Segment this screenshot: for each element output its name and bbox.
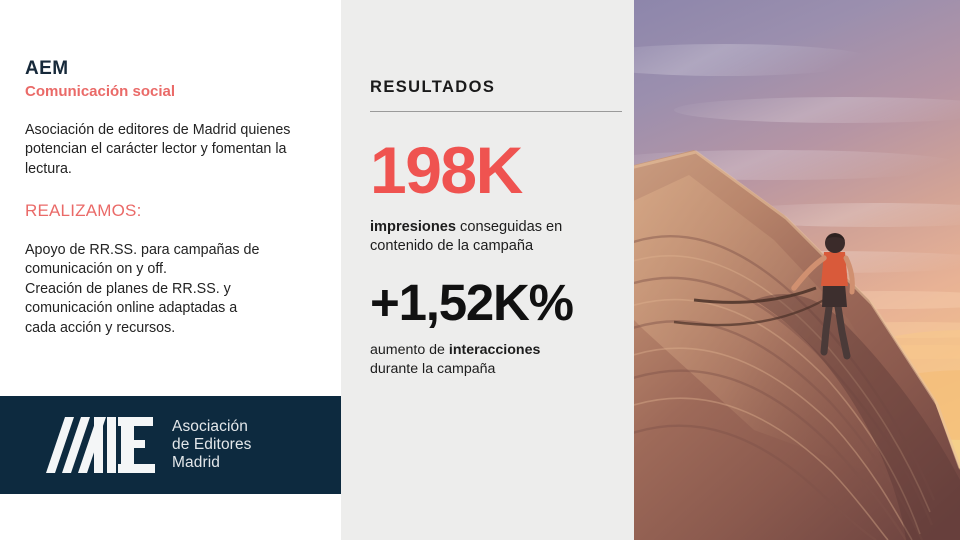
services-line-4: comunicación online adaptadas a <box>25 299 325 319</box>
climber-photo-image <box>634 0 960 540</box>
stat-interactions-caption-bold: interacciones <box>449 342 540 358</box>
left-content-block: AEM Comunicación social Asociación de ed… <box>25 58 325 339</box>
logo-wordmark: Asociación de Editores Madrid <box>172 418 252 472</box>
climber-photo-panel <box>634 0 960 540</box>
results-content: RESULTADOS 198K impresiones conseguidas … <box>370 78 623 378</box>
services-section-label: REALIZAMOS: <box>25 201 325 221</box>
stat-impressions-caption: impresiones conseguidas en contenido de … <box>370 218 623 256</box>
stat-interactions-caption-pre: aumento de <box>370 342 449 358</box>
brand-subtitle: Comunicación social <box>25 83 325 102</box>
services-line-1: Apoyo de RR.SS. para campañas de <box>25 241 325 261</box>
presentation-slide: AEM Comunicación social Asociación de ed… <box>0 0 960 540</box>
left-text-panel: AEM Comunicación social Asociación de ed… <box>0 0 341 540</box>
logo-word-line-3: Madrid <box>172 454 252 472</box>
services-line-2: comunicación on y off. <box>25 260 325 280</box>
logo-inner: Asociación de Editores Madrid <box>22 410 252 480</box>
stat-interactions-value: +1,52K% <box>370 277 623 328</box>
brand-title: AEM <box>25 58 325 81</box>
services-line-5: cada acción y recursos. <box>25 319 325 339</box>
results-heading: RESULTADOS <box>370 78 623 98</box>
stat-interactions-caption: aumento de interacciones durante la camp… <box>370 341 623 378</box>
aem-logo-mark-icon <box>22 411 156 479</box>
services-description: Apoyo de RR.SS. para campañas de comunic… <box>25 241 325 339</box>
results-panel: RESULTADOS 198K impresiones conseguidas … <box>341 0 634 540</box>
logo-word-line-2: de Editores <box>172 436 252 454</box>
stat-impressions-caption-bold: impresiones <box>370 219 456 235</box>
stat-impressions-value: 198K <box>370 138 623 203</box>
logo-word-line-1: Asociación <box>172 418 252 436</box>
stat-interactions-caption-post: durante la campaña <box>370 361 495 377</box>
services-line-3: Creación de planes de RR.SS. y <box>25 280 325 300</box>
aem-logo-block: Asociación de Editores Madrid <box>0 396 341 494</box>
about-description: Asociación de editores de Madrid quienes… <box>25 121 325 180</box>
results-divider <box>370 111 622 112</box>
